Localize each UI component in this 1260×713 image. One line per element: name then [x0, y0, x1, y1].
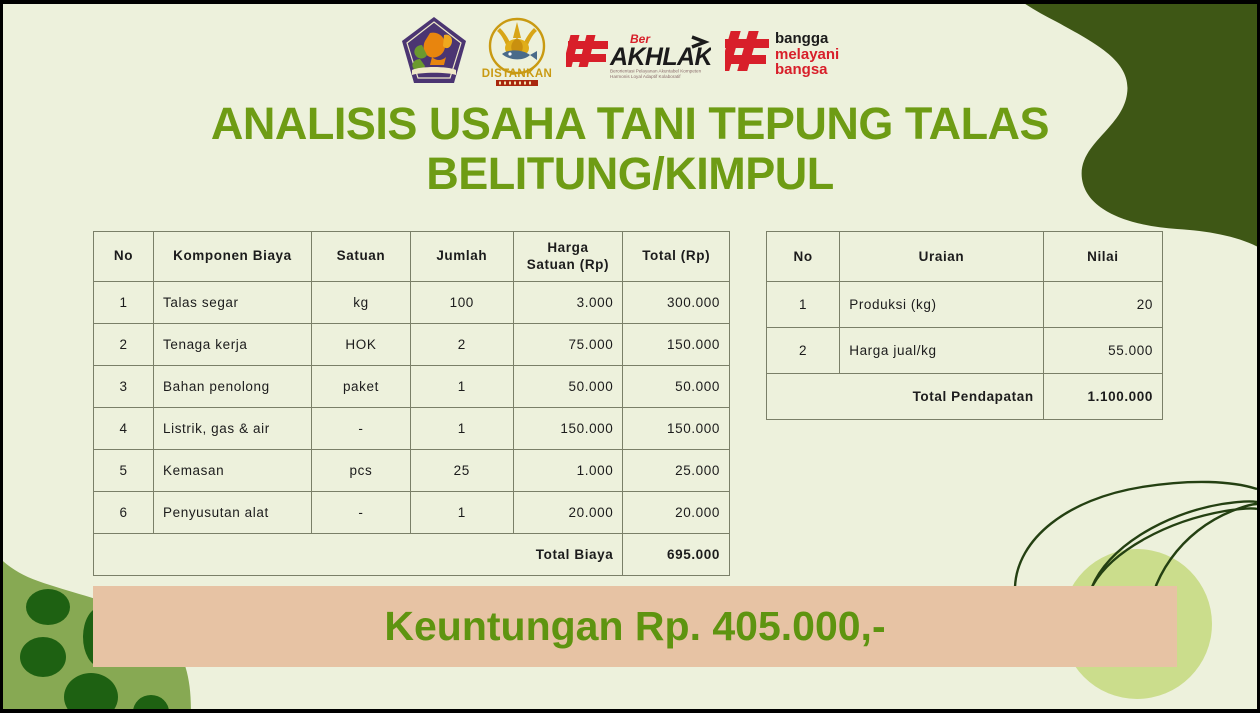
cost-total-row: Total Biaya 695.000	[94, 534, 730, 576]
cost-total-label: Total Biaya	[94, 534, 623, 576]
header-komponen: Komponen Biaya	[154, 232, 312, 282]
cell-uraian: Harga jual/kg	[840, 328, 1043, 374]
cell-jumlah: 2	[411, 324, 514, 366]
cell-total: 300.000	[623, 282, 730, 324]
cell-no: 5	[94, 450, 154, 492]
distankan-logo: DISTANKAN	[482, 14, 552, 88]
bangga-melayani-bangsa-logo: bangga melayani bangsa	[725, 23, 860, 79]
cell-total: 150.000	[623, 324, 730, 366]
cell-no: 6	[94, 492, 154, 534]
cell-komponen: Tenaga kerja	[154, 324, 312, 366]
profit-banner: Keuntungan Rp. 405.000,-	[93, 586, 1177, 667]
cell-jumlah: 1	[411, 408, 514, 450]
table-row: 3Bahan penolongpaket150.00050.000	[94, 366, 730, 408]
table-row: 2Harga jual/kg55.000	[767, 328, 1163, 374]
cell-harga: 150.000	[513, 408, 623, 450]
berakhlak-logo: Ber AKHLAK Berorientasi Pelayanan Akunta…	[566, 21, 711, 81]
header-satuan: Satuan	[311, 232, 410, 282]
cell-satuan: HOK	[311, 324, 410, 366]
cell-total: 50.000	[623, 366, 730, 408]
cell-satuan: kg	[311, 282, 410, 324]
cell-total: 20.000	[623, 492, 730, 534]
cost-total-value: 695.000	[623, 534, 730, 576]
svg-text:bangsa: bangsa	[775, 61, 828, 78]
cell-satuan: -	[311, 492, 410, 534]
cell-komponen: Listrik, gas & air	[154, 408, 312, 450]
cell-no: 3	[94, 366, 154, 408]
svg-text:Harmonis Loyal Adaptif Kolabor: Harmonis Loyal Adaptif Kolaboratif	[610, 74, 681, 79]
cell-no: 4	[94, 408, 154, 450]
cell-komponen: Talas segar	[154, 282, 312, 324]
table-row: 1Produksi (kg)20	[767, 282, 1163, 328]
svg-text:Berorientasi Pelayanan Akuntab: Berorientasi Pelayanan Akuntabel Kompete…	[610, 69, 702, 74]
pendapatan-table: No Uraian Nilai 1Produksi (kg)202Harga j…	[766, 231, 1163, 420]
table-header-row: No Uraian Nilai	[767, 232, 1163, 282]
cell-komponen: Bahan penolong	[154, 366, 312, 408]
cell-harga: 50.000	[513, 366, 623, 408]
table-row: 4Listrik, gas & air-1150.000150.000	[94, 408, 730, 450]
cell-jumlah: 25	[411, 450, 514, 492]
header-harga-line2: Satuan (Rp)	[527, 257, 609, 272]
cell-no: 1	[767, 282, 840, 328]
kabupaten-emblem-logo	[400, 15, 468, 87]
cell-jumlah: 100	[411, 282, 514, 324]
cell-harga: 75.000	[513, 324, 623, 366]
cell-total: 150.000	[623, 408, 730, 450]
slide-canvas: DISTANKAN Ber AKHLAK	[0, 0, 1260, 713]
income-total-row: Total Pendapatan 1.100.000	[767, 374, 1163, 420]
cell-no: 2	[94, 324, 154, 366]
header-harga-line1: Harga	[547, 240, 588, 255]
cell-no: 2	[767, 328, 840, 374]
header-nilai: Nilai	[1043, 232, 1162, 282]
cell-harga: 3.000	[513, 282, 623, 324]
cell-uraian: Produksi (kg)	[840, 282, 1043, 328]
header-harga-satuan: Harga Satuan (Rp)	[513, 232, 623, 282]
cell-komponen: Kemasan	[154, 450, 312, 492]
page-title-line1: ANALISIS USAHA TANI TEPUNG TALAS	[3, 99, 1257, 149]
header-jumlah: Jumlah	[411, 232, 514, 282]
cell-nilai: 20	[1043, 282, 1162, 328]
table-row: 6Penyusutan alat-120.00020.000	[94, 492, 730, 534]
cell-nilai: 55.000	[1043, 328, 1162, 374]
cell-harga: 1.000	[513, 450, 623, 492]
table-row: 2Tenaga kerjaHOK275.000150.000	[94, 324, 730, 366]
cell-total: 25.000	[623, 450, 730, 492]
cell-satuan: pcs	[311, 450, 410, 492]
table-row: 5Kemasanpcs251.00025.000	[94, 450, 730, 492]
svg-text:DISTANKAN: DISTANKAN	[482, 68, 552, 80]
cell-satuan: -	[311, 408, 410, 450]
logo-row: DISTANKAN Ber AKHLAK	[3, 12, 1257, 90]
komponen-biaya-table: No Komponen Biaya Satuan Jumlah Harga Sa…	[93, 231, 730, 576]
page-title: ANALISIS USAHA TANI TEPUNG TALAS BELITUN…	[3, 99, 1257, 200]
cell-jumlah: 1	[411, 366, 514, 408]
header-uraian: Uraian	[840, 232, 1043, 282]
header-no: No	[767, 232, 840, 282]
table-header-row: No Komponen Biaya Satuan Jumlah Harga Sa…	[94, 232, 730, 282]
cell-jumlah: 1	[411, 492, 514, 534]
cell-satuan: paket	[311, 366, 410, 408]
cell-harga: 20.000	[513, 492, 623, 534]
cell-komponen: Penyusutan alat	[154, 492, 312, 534]
profit-text: Keuntungan Rp. 405.000,-	[384, 603, 885, 650]
header-total: Total (Rp)	[623, 232, 730, 282]
table-row: 1Talas segarkg1003.000300.000	[94, 282, 730, 324]
page-title-line2: BELITUNG/KIMPUL	[3, 149, 1257, 199]
svg-text:bangga: bangga	[775, 30, 829, 47]
income-total-value: 1.100.000	[1043, 374, 1162, 420]
cell-no: 1	[94, 282, 154, 324]
header-no: No	[94, 232, 154, 282]
income-total-label: Total Pendapatan	[767, 374, 1044, 420]
